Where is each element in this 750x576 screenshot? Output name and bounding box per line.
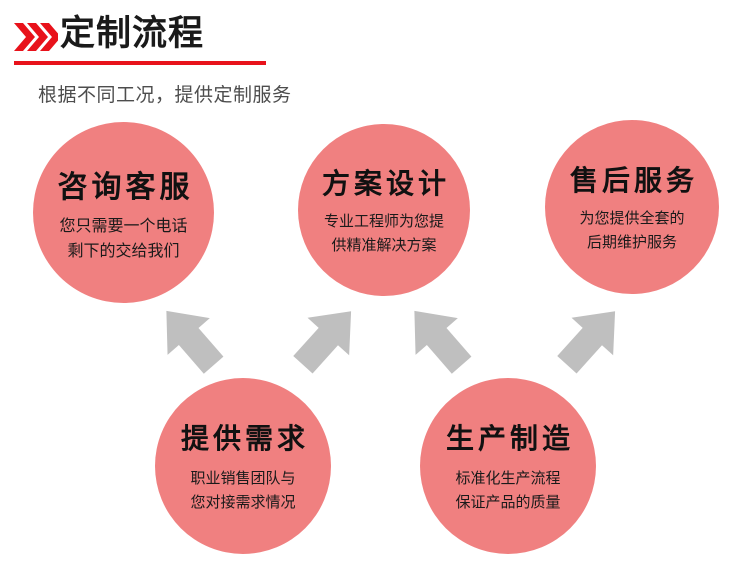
flow-node-scheme-design[interactable]: 方案设计 专业工程师为您提 供精准解决方案 (298, 124, 470, 296)
triple-chevron-right-icon (14, 23, 58, 51)
flow-node-desc-line: 后期维护服务 (579, 231, 684, 255)
flow-node-after-sales-service[interactable]: 售后服务 为您提供全套的 后期维护服务 (545, 120, 719, 294)
flow-node-description: 您只需要一个电话 剩下的交给我们 (59, 214, 187, 264)
flow-node-desc-line: 标准化生产流程 (455, 467, 560, 491)
arrow-up-right-icon (555, 300, 627, 376)
page-subtitle: 根据不同工况，提供定制服务 (38, 80, 292, 107)
flow-node-description: 标准化生产流程 保证产品的质量 (455, 467, 560, 515)
arrow-down-right-icon (402, 300, 474, 376)
flow-node-title: 售后服务 (566, 159, 698, 199)
arrow-down-right-icon (155, 300, 225, 376)
page-title: 定制流程 (60, 12, 204, 56)
flow-node-desc-line: 专业工程师为您提 (324, 210, 444, 234)
flow-node-desc-line: 保证产品的质量 (455, 491, 560, 515)
flow-node-title: 生产制造 (442, 417, 574, 457)
flow-node-production-manufacturing[interactable]: 生产制造 标准化生产流程 保证产品的质量 (420, 378, 596, 554)
flow-node-description: 为您提供全套的 后期维护服务 (579, 207, 684, 255)
flow-node-title: 咨询客服 (54, 162, 194, 206)
flow-node-consult-service[interactable]: 咨询客服 您只需要一个电话 剩下的交给我们 (33, 122, 214, 303)
flow-node-description: 职业销售团队与 您对接需求情况 (190, 467, 295, 515)
flow-node-desc-line: 职业销售团队与 (190, 467, 295, 491)
flow-node-provide-requirements[interactable]: 提供需求 职业销售团队与 您对接需求情况 (155, 378, 331, 554)
flow-node-description: 专业工程师为您提 供精准解决方案 (324, 210, 444, 258)
flow-node-desc-line: 您对接需求情况 (190, 491, 295, 515)
title-underline-divider (14, 61, 266, 65)
arrow-up-right-icon (290, 300, 365, 376)
flow-node-title: 提供需求 (177, 417, 309, 457)
flow-node-desc-line: 您只需要一个电话 (59, 214, 187, 239)
flow-node-desc-line: 为您提供全套的 (579, 207, 684, 231)
flow-node-desc-line: 供精准解决方案 (324, 234, 444, 258)
page-header: 定制流程 根据不同工况，提供定制服务 (0, 0, 750, 72)
flow-node-desc-line: 剩下的交给我们 (59, 239, 187, 264)
flow-node-title: 方案设计 (318, 162, 450, 202)
